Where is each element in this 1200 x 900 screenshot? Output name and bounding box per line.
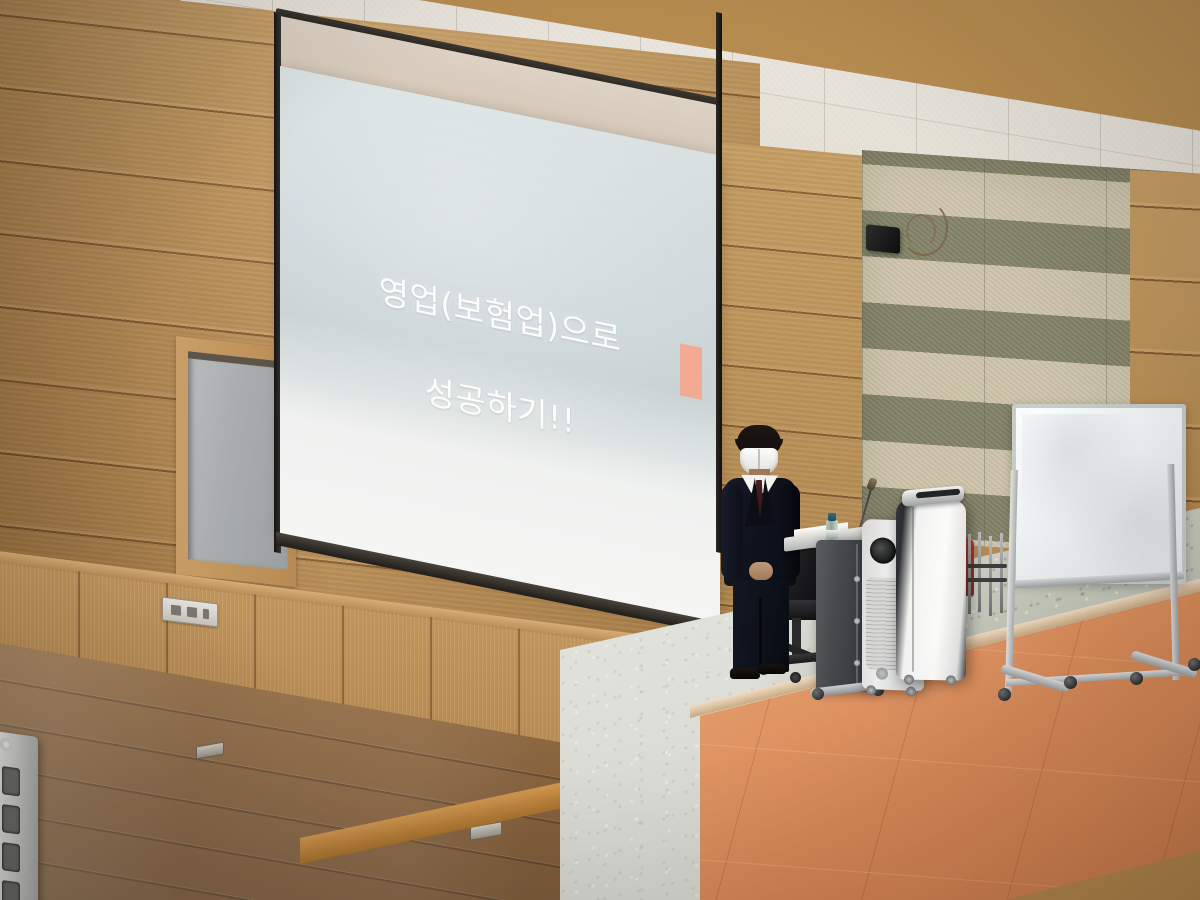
chair-frame-rail xyxy=(968,534,971,614)
podium-fastener xyxy=(854,576,860,582)
podium-caster xyxy=(812,688,824,700)
radiator-valve-cap xyxy=(0,738,12,752)
presenter-hands xyxy=(749,562,773,580)
radiator-fin xyxy=(2,804,20,835)
whiteboard-caster xyxy=(998,688,1011,701)
radiator-fin xyxy=(2,880,20,900)
projection-screen: 영업(보험업)으로 성공하기!! xyxy=(280,8,718,568)
presenter-trousers xyxy=(733,580,789,672)
bottle-cap xyxy=(828,513,836,521)
podium-fastener xyxy=(854,660,860,666)
purifier-top-vent xyxy=(916,489,960,499)
air-purifier-right xyxy=(896,499,966,680)
purifier-caster xyxy=(906,686,916,696)
podium-fastener xyxy=(854,618,860,624)
whiteboard-caster xyxy=(1188,658,1200,671)
projected-slide: 영업(보험업)으로 성공하기!! xyxy=(280,66,720,626)
purifier-caster xyxy=(946,675,956,685)
whiteboard-caster xyxy=(1130,672,1143,685)
mobile-whiteboard xyxy=(1002,404,1182,704)
whiteboard-smudges xyxy=(1022,414,1176,574)
purifier-caster xyxy=(866,685,876,695)
presenter-shoe-left xyxy=(730,668,760,679)
chair-frame-rail xyxy=(989,536,992,616)
whiteboard-surface[interactable] xyxy=(1012,404,1186,584)
bottle-label xyxy=(826,530,838,539)
hanging-cable xyxy=(906,214,936,248)
niche-top-rail xyxy=(188,351,288,369)
chair-seat-bar xyxy=(967,564,1007,568)
purifier-caster xyxy=(904,675,914,685)
radiator-fin xyxy=(2,766,20,797)
purifier-seam xyxy=(912,508,914,672)
purifier-power-button[interactable] xyxy=(876,667,888,679)
presenter-arm-left xyxy=(721,484,743,580)
wall-speaker-icon xyxy=(866,224,900,254)
purifier-fan-vent xyxy=(870,537,896,564)
lecture-hall-photo: 영업(보험업)으로 성공하기!! xyxy=(0,0,1200,900)
presenter xyxy=(716,428,808,680)
radiator xyxy=(0,731,38,900)
radiator-fin xyxy=(2,842,20,873)
chair-seat-bar xyxy=(967,578,1007,582)
presenter-shoe-right xyxy=(758,664,786,674)
whiteboard-caster xyxy=(1064,676,1077,689)
niche-inner-board xyxy=(188,351,288,570)
chair-frame-rail xyxy=(978,532,981,612)
